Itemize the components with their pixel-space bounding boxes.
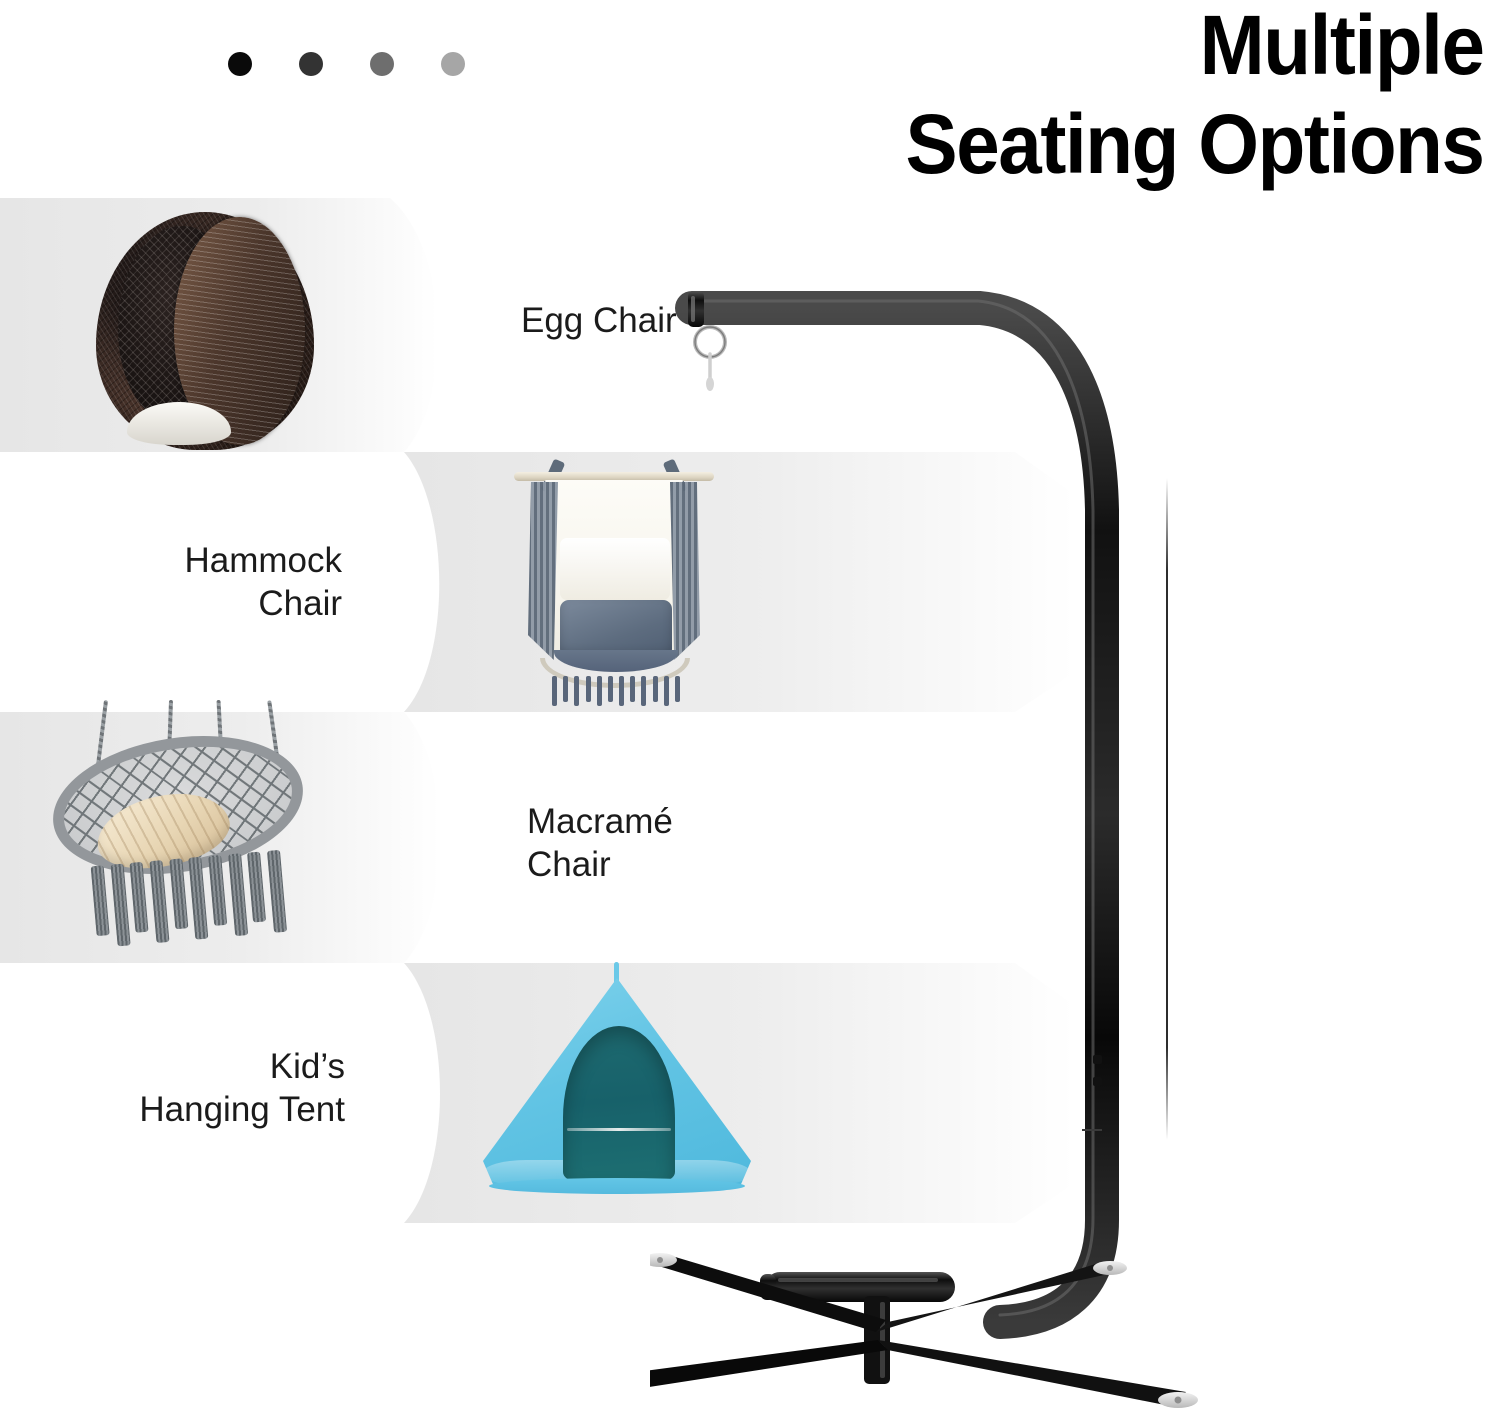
macrame-rope-1 <box>96 700 108 766</box>
stand-base-connector-highlight <box>778 1278 938 1282</box>
stand-bolt-lower <box>1093 1077 1102 1086</box>
progress-dots <box>228 52 465 76</box>
stand-center-hub-highlight <box>880 1302 885 1378</box>
stand-arm-cap-highlight <box>691 296 695 322</box>
page-title: Multiple Seating Options <box>906 0 1484 194</box>
stand-arm-end-cap <box>688 291 704 327</box>
foot-bolt-rear-right <box>1107 1265 1113 1271</box>
foot-bolt-front-right <box>1175 1397 1182 1404</box>
label-hammock-chair: Hammock Chair <box>90 540 342 625</box>
dot-2-icon[interactable] <box>299 52 323 76</box>
macrame-tassel-fringe <box>91 850 288 952</box>
base-leg-front-right <box>878 1340 1186 1406</box>
stand-tube-highlight <box>695 301 1093 1315</box>
product-image-egg-chair <box>96 212 314 450</box>
stand-bolt-upper <box>1093 1055 1102 1064</box>
dot-1-icon[interactable] <box>228 52 252 76</box>
hanging-ring-pin <box>706 377 714 391</box>
product-image-c-stand <box>650 250 1500 1408</box>
foot-bolt-rear-left <box>657 1257 663 1263</box>
infographic-canvas: Multiple Seating Options Egg Chair Hammo… <box>0 0 1500 1408</box>
label-kids-tent: Kid’s Hanging Tent <box>60 1046 345 1131</box>
dot-3-icon[interactable] <box>370 52 394 76</box>
headline-line-1: Multiple <box>906 0 1484 95</box>
product-image-macrame-chair <box>42 700 328 950</box>
base-leg-front-left <box>650 1340 888 1398</box>
stand-main-tube <box>692 308 1102 1322</box>
headline-line-2: Seating Options <box>906 95 1484 194</box>
stand-center-hub <box>864 1296 890 1384</box>
hammock-side-left <box>528 482 558 660</box>
dot-4-icon[interactable] <box>441 52 465 76</box>
